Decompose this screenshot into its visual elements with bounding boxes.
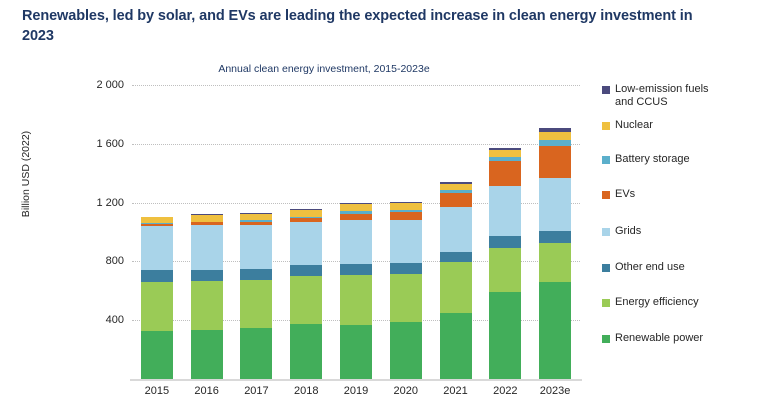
bar-segment[interactable] — [290, 210, 322, 217]
bar-segment[interactable] — [390, 322, 422, 379]
x-tick-label: 2015 — [132, 385, 182, 397]
bar-segment[interactable] — [539, 132, 571, 140]
bar-segment[interactable] — [390, 263, 422, 274]
legend-item[interactable]: Low-emission fuels and CCUS — [602, 83, 709, 109]
bar-stack[interactable] — [440, 182, 472, 379]
bar-segment[interactable] — [440, 207, 472, 252]
bar-segment[interactable] — [290, 265, 322, 276]
bar-segment[interactable] — [489, 186, 521, 236]
x-tick-label: 2022 — [480, 385, 530, 397]
bar-segment[interactable] — [141, 226, 173, 270]
bar-segment[interactable] — [141, 331, 173, 380]
bar-segment[interactable] — [440, 252, 472, 262]
bar-segment[interactable] — [489, 236, 521, 248]
bar-segment[interactable] — [191, 215, 223, 222]
gridline — [132, 85, 580, 86]
bar-stack[interactable] — [340, 203, 372, 379]
bar-segment[interactable] — [489, 161, 521, 186]
bar-segment[interactable] — [340, 220, 372, 264]
legend-swatch-icon — [602, 86, 610, 94]
bar-segment[interactable] — [141, 282, 173, 331]
legend-swatch-icon — [602, 264, 610, 272]
axis-baseline — [130, 379, 582, 381]
bar-segment[interactable] — [340, 325, 372, 379]
bar-segment[interactable] — [489, 292, 521, 379]
bar-segment[interactable] — [290, 276, 322, 324]
legend-swatch-icon — [602, 335, 610, 343]
legend-item[interactable]: EVs — [602, 188, 635, 201]
bar-segment[interactable] — [539, 282, 571, 379]
x-tick-label: 2018 — [281, 385, 331, 397]
y-tick-label: 800 — [64, 255, 124, 267]
bar-stack[interactable] — [191, 214, 223, 379]
legend-swatch-icon — [602, 191, 610, 199]
bar-stack[interactable] — [141, 217, 173, 379]
bar-segment[interactable] — [141, 270, 173, 282]
bar-segment[interactable] — [240, 328, 272, 379]
legend-item[interactable]: Battery storage — [602, 153, 690, 166]
y-axis: 4008001 2001 6002 000 — [62, 85, 124, 379]
bar-stack[interactable] — [240, 213, 272, 379]
legend-swatch-icon — [602, 156, 610, 164]
bar-stack[interactable] — [489, 148, 521, 379]
legend-label: Renewable power — [615, 332, 703, 345]
bar-segment[interactable] — [440, 313, 472, 379]
bar-segment[interactable] — [340, 204, 372, 211]
chart-subtitle: Annual clean energy investment, 2015-202… — [0, 63, 768, 75]
bar-stack[interactable] — [290, 209, 322, 379]
legend-item[interactable]: Grids — [602, 225, 641, 238]
legend-item[interactable]: Other end use — [602, 261, 685, 274]
legend-label: Energy efficiency — [615, 296, 699, 309]
x-tick-label: 2016 — [182, 385, 232, 397]
bar-segment[interactable] — [489, 248, 521, 292]
bar-segment[interactable] — [440, 193, 472, 207]
bar-segment[interactable] — [489, 150, 521, 157]
legend-swatch-icon — [602, 299, 610, 307]
bar-stack[interactable] — [390, 202, 422, 379]
bar-segment[interactable] — [191, 281, 223, 330]
bar-segment[interactable] — [240, 269, 272, 280]
legend-label: Other end use — [615, 261, 685, 274]
bar-segment[interactable] — [539, 231, 571, 243]
bar-segment[interactable] — [539, 178, 571, 231]
legend-swatch-icon — [602, 228, 610, 236]
bar-stack[interactable] — [539, 128, 571, 379]
x-tick-label: 2020 — [381, 385, 431, 397]
bar-segment[interactable] — [539, 146, 571, 178]
page-title: Renewables, led by solar, and EVs are le… — [22, 6, 722, 46]
plot-area — [132, 85, 580, 379]
bar-segment[interactable] — [240, 225, 272, 268]
bar-segment[interactable] — [240, 214, 272, 221]
y-axis-title: Billion USD (2022) — [20, 104, 32, 244]
bar-segment[interactable] — [390, 203, 422, 210]
legend-label: EVs — [615, 188, 635, 201]
legend-item[interactable]: Energy efficiency — [602, 296, 699, 309]
bar-segment[interactable] — [390, 220, 422, 263]
legend-item[interactable]: Renewable power — [602, 332, 703, 345]
legend-item[interactable]: Nuclear — [602, 119, 653, 132]
bar-segment[interactable] — [440, 184, 472, 191]
bar-segment[interactable] — [290, 222, 322, 265]
legend-label: Grids — [615, 225, 641, 238]
bar-segment[interactable] — [390, 274, 422, 323]
bar-segment[interactable] — [240, 280, 272, 329]
bar-segment[interactable] — [539, 243, 571, 282]
legend-swatch-icon — [602, 122, 610, 130]
y-tick-label: 2 000 — [64, 79, 124, 91]
gridline — [132, 144, 580, 145]
bar-segment[interactable] — [440, 262, 472, 313]
legend-label: Battery storage — [615, 153, 690, 166]
bar-segment[interactable] — [340, 214, 372, 221]
bar-segment[interactable] — [340, 264, 372, 275]
title-block: Renewables, led by solar, and EVs are le… — [22, 6, 722, 46]
bar-segment[interactable] — [340, 275, 372, 324]
bar-segment[interactable] — [390, 212, 422, 220]
bar-segment[interactable] — [191, 225, 223, 269]
x-tick-label: 2017 — [232, 385, 282, 397]
x-tick-label: 2023e — [530, 385, 580, 397]
legend-label: Nuclear — [615, 119, 653, 132]
bar-segment[interactable] — [290, 324, 322, 379]
legend-label: Low-emission fuels and CCUS — [615, 83, 709, 109]
bar-segment[interactable] — [191, 270, 223, 281]
y-tick-label: 1 200 — [64, 197, 124, 209]
y-tick-label: 400 — [64, 314, 124, 326]
bar-segment[interactable] — [191, 330, 223, 379]
x-tick-label: 2019 — [331, 385, 381, 397]
y-tick-label: 1 600 — [64, 138, 124, 150]
x-tick-label: 2021 — [431, 385, 481, 397]
